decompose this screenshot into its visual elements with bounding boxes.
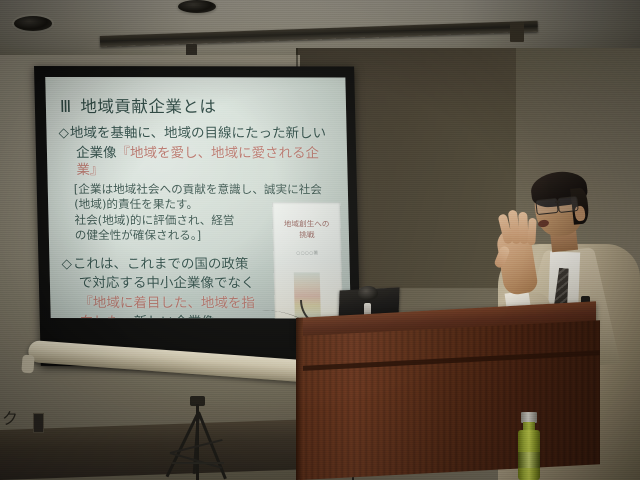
bullet-mark-icon: ◇ — [61, 256, 72, 272]
bullet-mark-icon: ◇ — [58, 125, 69, 141]
lecture-photo-scene: ク Ⅲ地域貢献企業とは ◇地域を基軸に、地域の目線にたった新しい 企業像『地域を… — [0, 0, 640, 480]
podium-wood-grain — [300, 320, 600, 480]
slide-sub-line-3: 社会(地域)的に評価され、経営 — [74, 213, 274, 229]
slide-heading-numeral: Ⅲ — [60, 97, 72, 116]
finger — [527, 218, 536, 245]
wall-sign-glyph: ク — [2, 408, 16, 430]
microphone-head — [358, 286, 378, 300]
bullet-2-line-4-rest: 新しい企業像。 — [134, 315, 229, 319]
presentation-slide: Ⅲ地域貢献企業とは ◇地域を基軸に、地域の目線にたった新しい 企業像『地域を愛し… — [45, 77, 351, 318]
bullet-1-line-1: 地域を基軸に、地域の目線にたった新しい — [70, 125, 327, 141]
rail-bracket — [510, 22, 524, 42]
screen-surface: Ⅲ地域貢献企業とは ◇地域を基軸に、地域の目線にたった新しい 企業像『地域を愛し… — [45, 77, 351, 318]
eyeglasses-bridge — [555, 201, 560, 203]
book-cover-author: ○○○○著 — [273, 250, 341, 256]
slide-heading-text: 地域貢献企業とは — [80, 97, 216, 116]
eyeglasses-lens-right — [557, 196, 578, 213]
wall-power-outlet — [33, 413, 44, 433]
recessed-downlight-icon — [178, 0, 216, 13]
slide-sub-line-4: の健全性が確保される。] — [75, 228, 275, 244]
podium-left-edge — [296, 318, 303, 480]
slide-bullet-1: ◇地域を基軸に、地域の目線にたった新しい — [58, 125, 336, 143]
screen-roller-cap — [21, 355, 34, 374]
book-title-line-2: 挑戦 — [299, 230, 314, 239]
recessed-downlight-icon — [14, 16, 52, 31]
bullet-2-line-1: これは、これまでの国の政策 — [73, 256, 249, 272]
tripod-brace — [172, 462, 224, 464]
book-title-line-1: 地域創生への — [284, 219, 330, 228]
slide-sub-line-1: [企業は地域社会への貢献を意識し、誠実に社会 — [74, 182, 338, 198]
wall-dado-band — [0, 420, 300, 480]
slide-heading: Ⅲ地域貢献企業とは — [60, 93, 337, 117]
bullet-1-line-2-prefix: 企業像 — [76, 145, 117, 161]
bullet-2-highlight-tail: 向した』 — [80, 314, 134, 318]
slide-bullet-1-line2: 企業像『地域を愛し、地域に愛される企業』 — [76, 145, 338, 181]
book-cover-title: 地域創生への 挑戦 — [273, 218, 342, 240]
bottle-label — [518, 452, 540, 468]
